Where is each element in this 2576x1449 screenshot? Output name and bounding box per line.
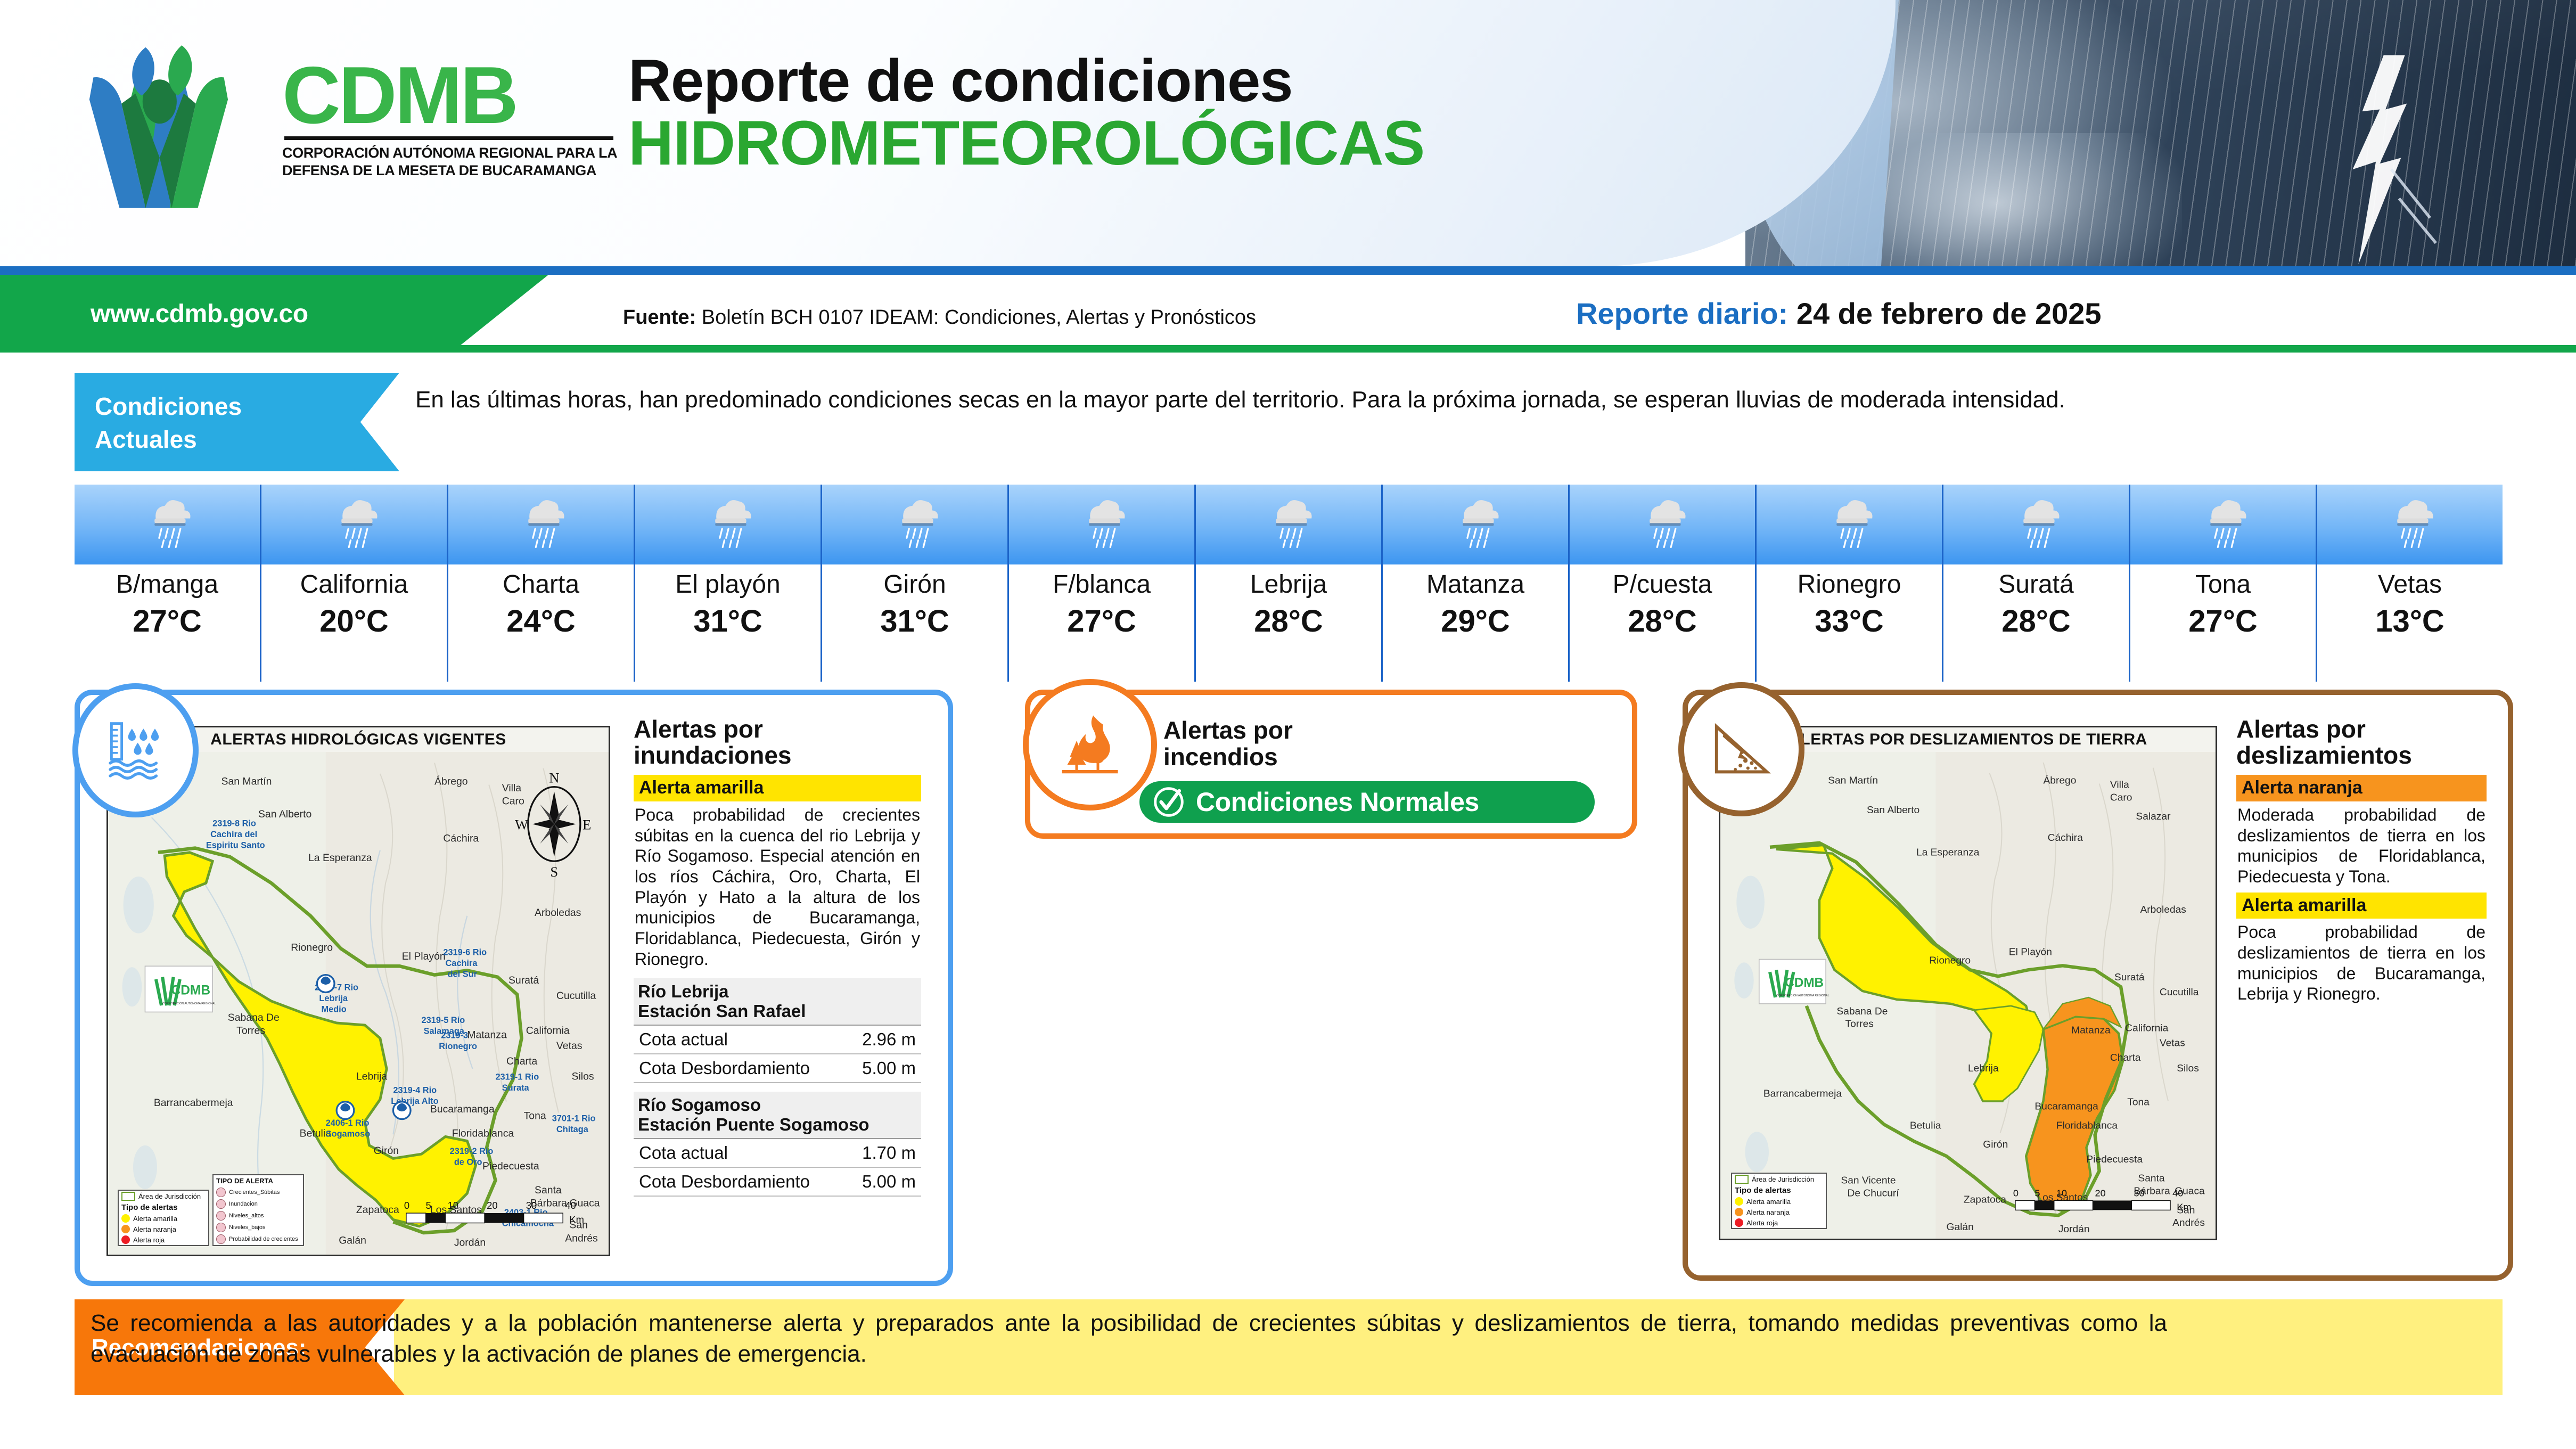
weather-temperature: 24°C	[448, 606, 634, 637]
weather-column: Matanza29°C	[1381, 485, 1568, 682]
svg-text:Andrés: Andrés	[565, 1232, 598, 1244]
svg-text:40: 40	[2172, 1188, 2183, 1199]
fire-badge	[1023, 679, 1157, 811]
svg-text:Caro: Caro	[502, 795, 524, 807]
svg-text:5: 5	[2034, 1188, 2040, 1199]
cdmb-logo-mark	[75, 37, 277, 213]
legend-type-row: Alerta amarilla	[119, 1213, 208, 1224]
weather-station-name: Suratá	[1943, 572, 2129, 597]
fire-heading: Alertas por incendios	[1163, 717, 1293, 770]
svg-text:Galán: Galán	[339, 1234, 366, 1246]
gauge-row-value: 5.00 m	[862, 1058, 916, 1078]
legend-dot-yellow	[1735, 1197, 1743, 1206]
svg-text:La Esperanza: La Esperanza	[308, 852, 372, 864]
gauge-row: Cota actual 1.70 m	[634, 1139, 921, 1168]
svg-text:2319-1 Rio: 2319-1 Rio	[495, 1073, 539, 1082]
svg-text:Piedecuesta: Piedecuesta	[482, 1160, 539, 1172]
alert-kind-label: Niveles_altos	[229, 1213, 264, 1219]
jurisdiction-label: Área de Jurisdicción	[1752, 1175, 1814, 1183]
gauge-table: Río Lebrija Estación San Rafael Cota act…	[634, 978, 921, 1083]
weather-icon-cell	[822, 485, 1007, 564]
svg-text:CORPORACIÓN AUTÓNOMA REGIONAL: CORPORACIÓN AUTÓNOMA REGIONAL	[162, 1002, 216, 1005]
rain-cloud-icon	[138, 493, 196, 551]
legend-jurisdiction: Área de Jurisdicción	[119, 1191, 208, 1202]
svg-text:2319-8 Rio: 2319-8 Rio	[212, 819, 256, 829]
alert-kind-row: Niveles_bajos	[214, 1222, 303, 1233]
gauge-row-label: Cota Desbordamiento	[639, 1058, 810, 1078]
landslide-alert-panel: ALERTAS POR DESLIZAMIENTOS DE TIERRA	[1683, 690, 2513, 1281]
weather-temperature: 20°C	[261, 606, 447, 637]
legend-types-title: Tipo de alertas	[119, 1202, 208, 1213]
weather-icon-cell	[2317, 485, 2503, 564]
weather-icon-cell	[1757, 485, 1942, 564]
green-divider-line	[0, 345, 2576, 353]
svg-text:Cachira: Cachira	[445, 959, 478, 968]
alerts-row: ALERTAS HIDROLÓGICAS VIGENTES	[75, 690, 2503, 1275]
svg-text:San Martín: San Martín	[221, 776, 272, 788]
svg-text:Arboledas: Arboledas	[535, 907, 581, 919]
alert-kind-row: Probabilidad de crecientes	[214, 1233, 303, 1245]
svg-text:10: 10	[2056, 1188, 2067, 1199]
flood-map-canvas: N S E W San MartínÁbrego VillaCaro San A…	[108, 752, 609, 1255]
legend-type-row: Alerta roja	[119, 1234, 208, 1245]
alert-kind-icon	[216, 1234, 226, 1244]
svg-text:W: W	[515, 817, 529, 833]
svg-text:Km: Km	[2177, 1201, 2191, 1212]
svg-text:Ábrego: Ábrego	[434, 775, 468, 788]
fire-status-label: Condiciones Normales	[1196, 787, 1479, 817]
svg-text:Chitaga: Chitaga	[556, 1125, 589, 1134]
alert-kind-row: Inundacion	[214, 1198, 303, 1210]
svg-text:E: E	[583, 817, 591, 833]
weather-temperature: 27°C	[75, 606, 260, 637]
svg-text:20: 20	[2095, 1188, 2106, 1199]
weather-station-name: Vetas	[2317, 572, 2503, 597]
svg-text:San Alberto: San Alberto	[1867, 805, 1919, 816]
rain-cloud-icon	[699, 493, 757, 551]
svg-text:Charta: Charta	[506, 1055, 537, 1067]
landslide-map-canvas: San MartínÁbrego VillaCaro San AlbertoSa…	[1720, 752, 2216, 1239]
fire-status-badge: Condiciones Normales	[1139, 781, 1595, 823]
legend-label-red: Alerta roja	[1746, 1219, 1778, 1227]
gauge-river-name: Río Sogamoso	[638, 1095, 917, 1115]
logo-acronym: CDMB	[282, 59, 623, 133]
svg-text:de Oro: de Oro	[454, 1158, 482, 1167]
svg-text:Silos: Silos	[572, 1071, 594, 1083]
weather-icon-cell	[1009, 485, 1194, 564]
legend-dot-red	[1735, 1218, 1743, 1227]
svg-text:California: California	[526, 1025, 570, 1036]
landslide-heading-line1: Alertas por	[2236, 716, 2487, 742]
weather-icon-cell	[2130, 485, 2316, 564]
recommendations-text: Se recomienda a las autoridades y a la p…	[91, 1308, 2167, 1370]
svg-text:Cucutilla: Cucutilla	[2160, 987, 2199, 998]
alert-kind-label: Probabilidad de crecientes	[229, 1236, 298, 1242]
svg-text:Floridablanca: Floridablanca	[2056, 1120, 2118, 1131]
flood-alert-band: Alerta amarilla	[634, 775, 921, 801]
svg-text:40: 40	[565, 1200, 576, 1211]
rain-cloud-icon	[1634, 493, 1691, 551]
weather-icon-cell	[448, 485, 634, 564]
water-level-gauge-icon	[104, 718, 168, 782]
logo-subtitle-line1: CORPORACIÓN AUTÓNOMA REGIONAL PARA LA	[282, 144, 623, 162]
weather-station-name: Tona	[2130, 572, 2316, 597]
jurisdiction-swatch	[1735, 1175, 1749, 1184]
forest-fire-icon	[1055, 711, 1125, 778]
check-circle-icon	[1151, 784, 1186, 820]
svg-text:Vetas: Vetas	[2160, 1038, 2185, 1049]
fire-alert-panel: Alertas por incendios Condiciones Normal…	[1025, 690, 1637, 839]
svg-text:San Alberto: San Alberto	[258, 808, 311, 820]
alert-kind-label: Inundacion	[229, 1201, 258, 1207]
alert-kind-title: TIPO DE ALERTA	[214, 1175, 303, 1186]
gauge-row: Cota actual 2.96 m	[634, 1026, 921, 1054]
weather-column: F/blanca27°C	[1007, 485, 1194, 682]
cdmb-logo: CDMB CORPORACIÓN AUTÓNOMA REGIONAL PARA …	[75, 37, 618, 213]
svg-text:CDMB: CDMB	[1785, 976, 1824, 990]
weather-column: Suratá28°C	[1942, 485, 2129, 682]
rain-cloud-icon	[2007, 493, 2065, 551]
rain-cloud-icon	[1820, 493, 1878, 551]
weather-temperature: 28°C	[1570, 606, 1755, 637]
rain-cloud-icon	[2381, 493, 2439, 551]
rain-cloud-icon	[2194, 493, 2252, 551]
svg-text:2319-4 Rio: 2319-4 Rio	[393, 1085, 437, 1095]
weather-icon-cell	[1383, 485, 1568, 564]
svg-text:2319-6 Rio: 2319-6 Rio	[443, 948, 487, 957]
legend-type-row: Alerta naranja	[119, 1224, 208, 1234]
svg-text:Rionegro: Rionegro	[1929, 955, 1971, 967]
svg-text:Lebrija: Lebrija	[356, 1071, 387, 1083]
svg-text:CDMB: CDMB	[171, 984, 211, 998]
lightning-bolt-icon	[2320, 53, 2443, 266]
landslide-icon	[1710, 718, 1774, 781]
rain-cloud-icon	[1260, 493, 1317, 551]
title-line-2: HIDROMETEOROLÓGICAS	[628, 111, 1424, 175]
weather-station-name: Rionegro	[1757, 572, 1942, 597]
weather-station-name: P/cuesta	[1570, 572, 1755, 597]
svg-text:Zapatoca: Zapatoca	[356, 1204, 399, 1216]
flood-alert-text: Poca probabilidad de crecientes súbitas …	[634, 801, 921, 970]
fire-heading-line2: incendios	[1163, 744, 1293, 771]
svg-text:Barrancabermeja: Barrancabermeja	[154, 1097, 233, 1109]
svg-text:10: 10	[448, 1200, 458, 1211]
weather-temperature: 33°C	[1757, 606, 1942, 637]
current-conditions-tab-line2: Actuales	[95, 425, 197, 454]
svg-text:Km: Km	[569, 1214, 584, 1225]
svg-text:Caro: Caro	[2110, 792, 2132, 804]
weather-icon-cell	[261, 485, 447, 564]
weather-column: B/manga27°C	[75, 485, 260, 682]
logo-subtitle-line2: DEFENSA DE LA MESETA DE BUCARAMANGA	[282, 162, 623, 179]
svg-text:San Martín: San Martín	[1828, 775, 1878, 787]
svg-text:del Sur: del Sur	[448, 970, 478, 979]
weather-temperature: 29°C	[1383, 606, 1568, 637]
svg-text:Matanza: Matanza	[2071, 1025, 2111, 1036]
legend-type-row: Alerta roja	[1732, 1217, 1826, 1228]
fire-heading-line1: Alertas por	[1163, 717, 1293, 744]
weather-column: Charta24°C	[447, 485, 634, 682]
svg-text:El Playón: El Playón	[2009, 947, 2052, 958]
flood-map[interactable]: ALERTAS HIDROLÓGICAS VIGENTES	[106, 726, 610, 1256]
svg-text:2319-2 Rio: 2319-2 Rio	[450, 1147, 494, 1156]
gauge-river: Río Lebrija Estación San Rafael	[634, 978, 921, 1026]
svg-text:De Chucurí: De Chucurí	[1848, 1188, 1900, 1199]
weather-icon-cell	[75, 485, 260, 564]
alert-kind-row: Niveles_altos	[214, 1210, 303, 1222]
flood-alert-content: Alertas por inundaciones Alerta amarilla…	[634, 716, 921, 1197]
weather-station-name: Matanza	[1383, 572, 1568, 597]
flood-map-legend: Área de Jurisdicción Tipo de alertas Ale…	[118, 1190, 209, 1246]
weather-station-name: Charta	[448, 572, 634, 597]
alert-kind-icon	[216, 1188, 226, 1197]
current-conditions-section: Condiciones Actuales En las últimas hora…	[75, 373, 2503, 471]
recommendations-section: Recomendaciones: Se recomienda a las aut…	[75, 1299, 2503, 1395]
alert-kind-icon	[216, 1199, 226, 1209]
landslide-map[interactable]: ALERTAS POR DESLIZAMIENTOS DE TIERRA	[1719, 726, 2217, 1240]
svg-text:Lebrija: Lebrija	[1968, 1063, 1999, 1074]
weather-icon-cell	[1943, 485, 2129, 564]
svg-text:Surata: Surata	[502, 1083, 530, 1093]
weather-column: Rionegro33°C	[1755, 485, 1942, 682]
svg-text:0: 0	[2013, 1188, 2019, 1199]
svg-text:Cáchira: Cáchira	[443, 832, 479, 844]
info-bar-blue-rule	[0, 266, 2576, 275]
svg-text:Jordán: Jordán	[2058, 1224, 2090, 1235]
svg-text:2319-3: 2319-3	[441, 1031, 468, 1041]
gauge-row: Cota Desbordamiento 5.00 m	[634, 1054, 921, 1083]
svg-text:Silos: Silos	[2177, 1063, 2199, 1074]
landslide-alert-text-yellow: Poca probabilidad de deslizamientos de t…	[2236, 919, 2487, 1004]
svg-text:Cucutilla: Cucutilla	[556, 990, 596, 1002]
legend-label-yellow: Alerta amarilla	[133, 1215, 177, 1223]
svg-text:2319-5 Rio: 2319-5 Rio	[422, 1016, 465, 1025]
weather-station-name: Lebrija	[1196, 572, 1381, 597]
svg-text:Jordán: Jordán	[454, 1237, 486, 1249]
weather-station-name: California	[261, 572, 447, 597]
flood-alert-panel: ALERTAS HIDROLÓGICAS VIGENTES	[75, 690, 953, 1286]
weather-temperature: 31°C	[635, 606, 821, 637]
gauge-station-name: Estación Puente Sogamoso	[638, 1115, 917, 1135]
svg-text:Espiritu Santo: Espiritu Santo	[206, 841, 265, 850]
title-line-1: Reporte de condiciones	[628, 51, 1424, 111]
weather-icon-cell	[635, 485, 821, 564]
svg-text:Suratá: Suratá	[508, 975, 539, 986]
gauge-row-value: 2.96 m	[862, 1029, 916, 1050]
legend-dot-orange	[1735, 1208, 1743, 1216]
page-title: Reporte de condiciones HIDROMETEOROLÓGIC…	[628, 51, 1424, 176]
svg-text:N: N	[549, 769, 559, 785]
svg-text:Girón: Girón	[374, 1145, 399, 1157]
weather-column: California20°C	[260, 485, 447, 682]
svg-text:Piedecuesta: Piedecuesta	[2086, 1154, 2143, 1165]
weather-temperature: 31°C	[822, 606, 1007, 637]
svg-text:Villa: Villa	[502, 782, 521, 794]
svg-text:S: S	[550, 864, 558, 880]
weather-station-name: El playón	[635, 572, 821, 597]
legend-dot-orange	[121, 1225, 130, 1233]
source-value: Boletín BCH 0107 IDEAM: Condiciones, Ale…	[696, 306, 1256, 329]
rain-cloud-icon	[1447, 493, 1504, 551]
svg-text:Andrés: Andrés	[2172, 1217, 2205, 1229]
legend-dot-red	[121, 1235, 130, 1244]
weather-station-name: Girón	[822, 572, 1007, 597]
svg-text:30: 30	[2134, 1188, 2144, 1199]
report-date: Reporte diario: 24 de febrero de 2025	[1576, 296, 2102, 331]
current-conditions-tab	[75, 373, 399, 471]
weather-column: Vetas13°C	[2316, 485, 2503, 682]
svg-text:Cáchira: Cáchira	[2048, 832, 2083, 844]
source-label: Fuente:	[623, 306, 696, 329]
weather-station-name: F/blanca	[1009, 572, 1194, 597]
svg-text:Suratá: Suratá	[2114, 972, 2145, 983]
legend-jurisdiction: Área de Jurisdicción	[1732, 1174, 1826, 1185]
landslide-alert-content: Alertas por deslizamientos Alerta naranj…	[2236, 716, 2487, 1004]
weather-column: P/cuesta28°C	[1568, 485, 1755, 682]
svg-text:Tona: Tona	[524, 1110, 546, 1121]
rain-cloud-icon	[886, 493, 944, 551]
info-bar: www.cdmb.gov.co Fuente: Boletín BCH 0107…	[0, 266, 2576, 345]
gauge-row-label: Cota Desbordamiento	[639, 1172, 810, 1192]
svg-text:Arboledas: Arboledas	[2140, 904, 2186, 915]
legend-type-row: Alerta amarilla	[1732, 1196, 1826, 1207]
source-text: Fuente: Boletín BCH 0107 IDEAM: Condicio…	[623, 306, 1256, 329]
gauge-station-name: Estación San Rafael	[638, 1001, 917, 1021]
legend-type-row: Alerta naranja	[1732, 1207, 1826, 1217]
svg-text:San Vicente: San Vicente	[1841, 1175, 1896, 1186]
svg-text:Matanza: Matanza	[467, 1029, 507, 1041]
svg-text:Santa: Santa	[535, 1184, 562, 1196]
svg-text:California: California	[2125, 1023, 2169, 1034]
svg-text:Betulia: Betulia	[1910, 1120, 1941, 1131]
gauge-row-value: 5.00 m	[862, 1172, 916, 1192]
weather-column: Tona27°C	[2129, 485, 2316, 682]
gauge-row-label: Cota actual	[639, 1143, 728, 1163]
current-conditions-text: En las últimas horas, han predominado co…	[415, 384, 2492, 415]
svg-text:Rionegro: Rionegro	[291, 942, 333, 953]
svg-text:Girón: Girón	[1983, 1139, 2008, 1150]
svg-text:Villa: Villa	[2110, 780, 2129, 791]
gauge-row-label: Cota actual	[639, 1029, 728, 1050]
landslide-alert-band-orange: Alerta naranja	[2236, 775, 2487, 801]
landslide-alert-text-orange: Moderada probabilidad de deslizamientos …	[2236, 801, 2487, 893]
svg-text:20: 20	[487, 1200, 497, 1211]
svg-text:Charta: Charta	[2110, 1052, 2141, 1063]
landslide-map-legend: Área de Jurisdicción Tipo de alertas Ale…	[1731, 1173, 1827, 1229]
svg-text:Floridablanca: Floridablanca	[452, 1127, 514, 1139]
svg-text:Zapatoca: Zapatoca	[1964, 1194, 2006, 1206]
svg-text:Sabana De: Sabana De	[1836, 1006, 1888, 1017]
svg-text:La Esperanza: La Esperanza	[1916, 847, 1980, 858]
svg-text:Medio: Medio	[322, 1004, 347, 1014]
legend-types-title: Tipo de alertas	[1732, 1185, 1826, 1196]
alert-kind-row: Crecientes_Súbitas	[214, 1186, 303, 1198]
weather-temperature: 28°C	[1943, 606, 2129, 637]
gauge-row-value: 1.70 m	[862, 1143, 916, 1163]
svg-text:Tona: Tona	[2127, 1097, 2150, 1108]
svg-text:Cachira del: Cachira del	[210, 830, 257, 839]
flood-badge	[72, 683, 199, 817]
alert-kind-label: Niveles_bajos	[229, 1224, 265, 1231]
svg-text:Torres: Torres	[1845, 1019, 1874, 1030]
flood-map-alert-kind-legend: TIPO DE ALERTA Crecientes_Súbitas Inunda…	[212, 1174, 304, 1246]
svg-text:Lebrija: Lebrija	[319, 994, 348, 1003]
svg-text:Sogamoso: Sogamoso	[326, 1129, 371, 1139]
current-conditions-tab-line1: Condiciones	[95, 392, 242, 421]
svg-text:Barrancabermeja: Barrancabermeja	[1763, 1088, 1842, 1100]
map-logo: CDMB CORPORACIÓN AUTÓNOMA REGIONAL	[145, 966, 216, 1012]
landslide-heading-line2: deslizamientos	[2236, 742, 2487, 768]
legend-label-orange: Alerta naranja	[133, 1225, 176, 1233]
weather-strip: B/manga27°C California20°C Charta24°C	[75, 485, 2503, 682]
svg-text:Torres: Torres	[236, 1025, 265, 1036]
svg-text:CORPORACIÓN AUTÓNOMA REGIONAL: CORPORACIÓN AUTÓNOMA REGIONAL	[1776, 994, 1830, 997]
legend-dot-yellow	[121, 1214, 130, 1223]
jurisdiction-swatch	[121, 1192, 135, 1201]
svg-text:0: 0	[404, 1200, 409, 1211]
flood-heading-line2: inundaciones	[634, 742, 921, 768]
svg-text:El Playón: El Playón	[402, 951, 446, 962]
gauge-river-name: Río Lebrija	[638, 981, 917, 1002]
svg-text:Salazar: Salazar	[2136, 811, 2171, 822]
svg-text:Bucaramanga: Bucaramanga	[2034, 1101, 2098, 1112]
report-date-value: 24 de febrero de 2025	[1788, 297, 2101, 330]
weather-icon-cell	[1570, 485, 1755, 564]
weather-station-name: B/manga	[75, 572, 260, 597]
svg-text:Ábrego: Ábrego	[2044, 775, 2077, 787]
svg-text:Rionegro: Rionegro	[439, 1042, 477, 1051]
svg-text:Vetas: Vetas	[556, 1040, 583, 1052]
weather-temperature: 27°C	[2130, 606, 2316, 637]
map-logo: CDMB CORPORACIÓN AUTÓNOMA REGIONAL	[1759, 959, 1830, 1003]
rain-cloud-icon	[1073, 493, 1130, 551]
weather-temperature: 28°C	[1196, 606, 1381, 637]
weather-temperature: 13°C	[2317, 606, 2503, 637]
legend-label-yellow: Alerta amarilla	[1746, 1198, 1791, 1206]
legend-label-red: Alerta roja	[133, 1236, 165, 1244]
weather-icon-cell	[1196, 485, 1381, 564]
page-header: CDMB CORPORACIÓN AUTÓNOMA REGIONAL PARA …	[0, 0, 2576, 266]
legend-label-orange: Alerta naranja	[1746, 1208, 1790, 1216]
alert-kind-icon	[216, 1211, 226, 1221]
gauge-river: Río Sogamoso Estación Puente Sogamoso	[634, 1092, 921, 1139]
report-date-label: Reporte diario:	[1576, 297, 1788, 330]
gauge-row: Cota Desbordamiento 5.00 m	[634, 1168, 921, 1197]
svg-text:5: 5	[426, 1200, 431, 1211]
svg-text:Sabana De: Sabana De	[228, 1012, 280, 1024]
landslide-alert-band-yellow: Alerta amarilla	[2236, 893, 2487, 919]
flood-heading-line1: Alertas por	[634, 716, 921, 742]
svg-text:Santa: Santa	[2138, 1173, 2165, 1184]
gauge-table: Río Sogamoso Estación Puente Sogamoso Co…	[634, 1092, 921, 1197]
rain-cloud-icon	[512, 493, 570, 551]
landslide-badge	[1678, 682, 1804, 816]
weather-column: Girón31°C	[821, 485, 1007, 682]
website-url[interactable]: www.cdmb.gov.co	[91, 299, 308, 329]
alert-kind-label: Crecientes_Súbitas	[229, 1189, 280, 1196]
rain-cloud-icon	[325, 493, 383, 551]
svg-text:30: 30	[526, 1200, 537, 1211]
jurisdiction-label: Área de Jurisdicción	[138, 1192, 201, 1200]
svg-text:Bucaramanga: Bucaramanga	[430, 1103, 495, 1115]
weather-column: El playón31°C	[634, 485, 821, 682]
svg-text:3701-1 Rio: 3701-1 Rio	[552, 1114, 596, 1124]
alert-kind-icon	[216, 1223, 226, 1232]
weather-temperature: 27°C	[1009, 606, 1194, 637]
svg-text:Galán: Galán	[1947, 1222, 1974, 1233]
weather-column: Lebrija28°C	[1194, 485, 1381, 682]
